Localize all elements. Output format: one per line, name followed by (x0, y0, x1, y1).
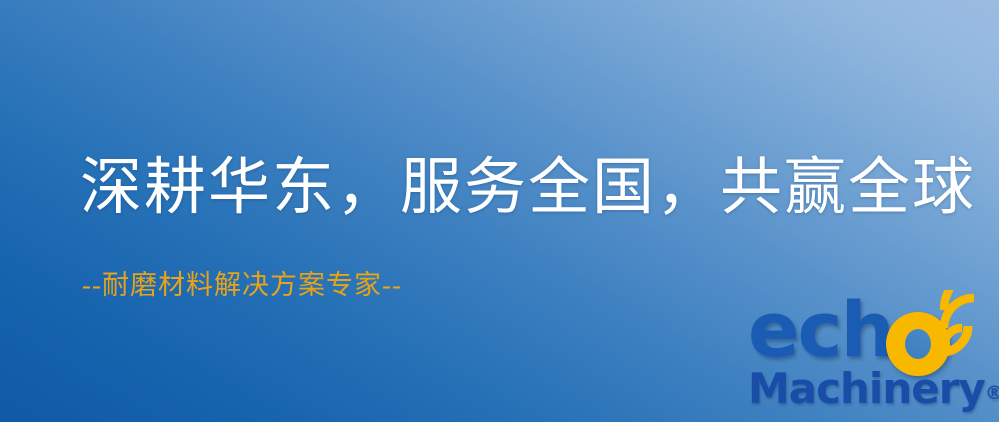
logo-echo-text: ech (748, 290, 893, 370)
signal-waves-icon (932, 290, 999, 360)
logo-company-name: Machinery® (748, 364, 999, 418)
registered-trademark-icon: ® (985, 382, 999, 404)
banner-subtitle: --耐磨材料解决方案专家-- (82, 268, 402, 302)
banner-headline: 深耕华东，服务全国，共赢全球 (80, 152, 940, 224)
echo-machinery-logo: ech Machinery® (746, 296, 999, 422)
logo-company-text: Machinery (748, 364, 985, 413)
promo-banner: 深耕华东，服务全国，共赢全球 --耐磨材料解决方案专家-- ech Machin… (0, 0, 999, 422)
